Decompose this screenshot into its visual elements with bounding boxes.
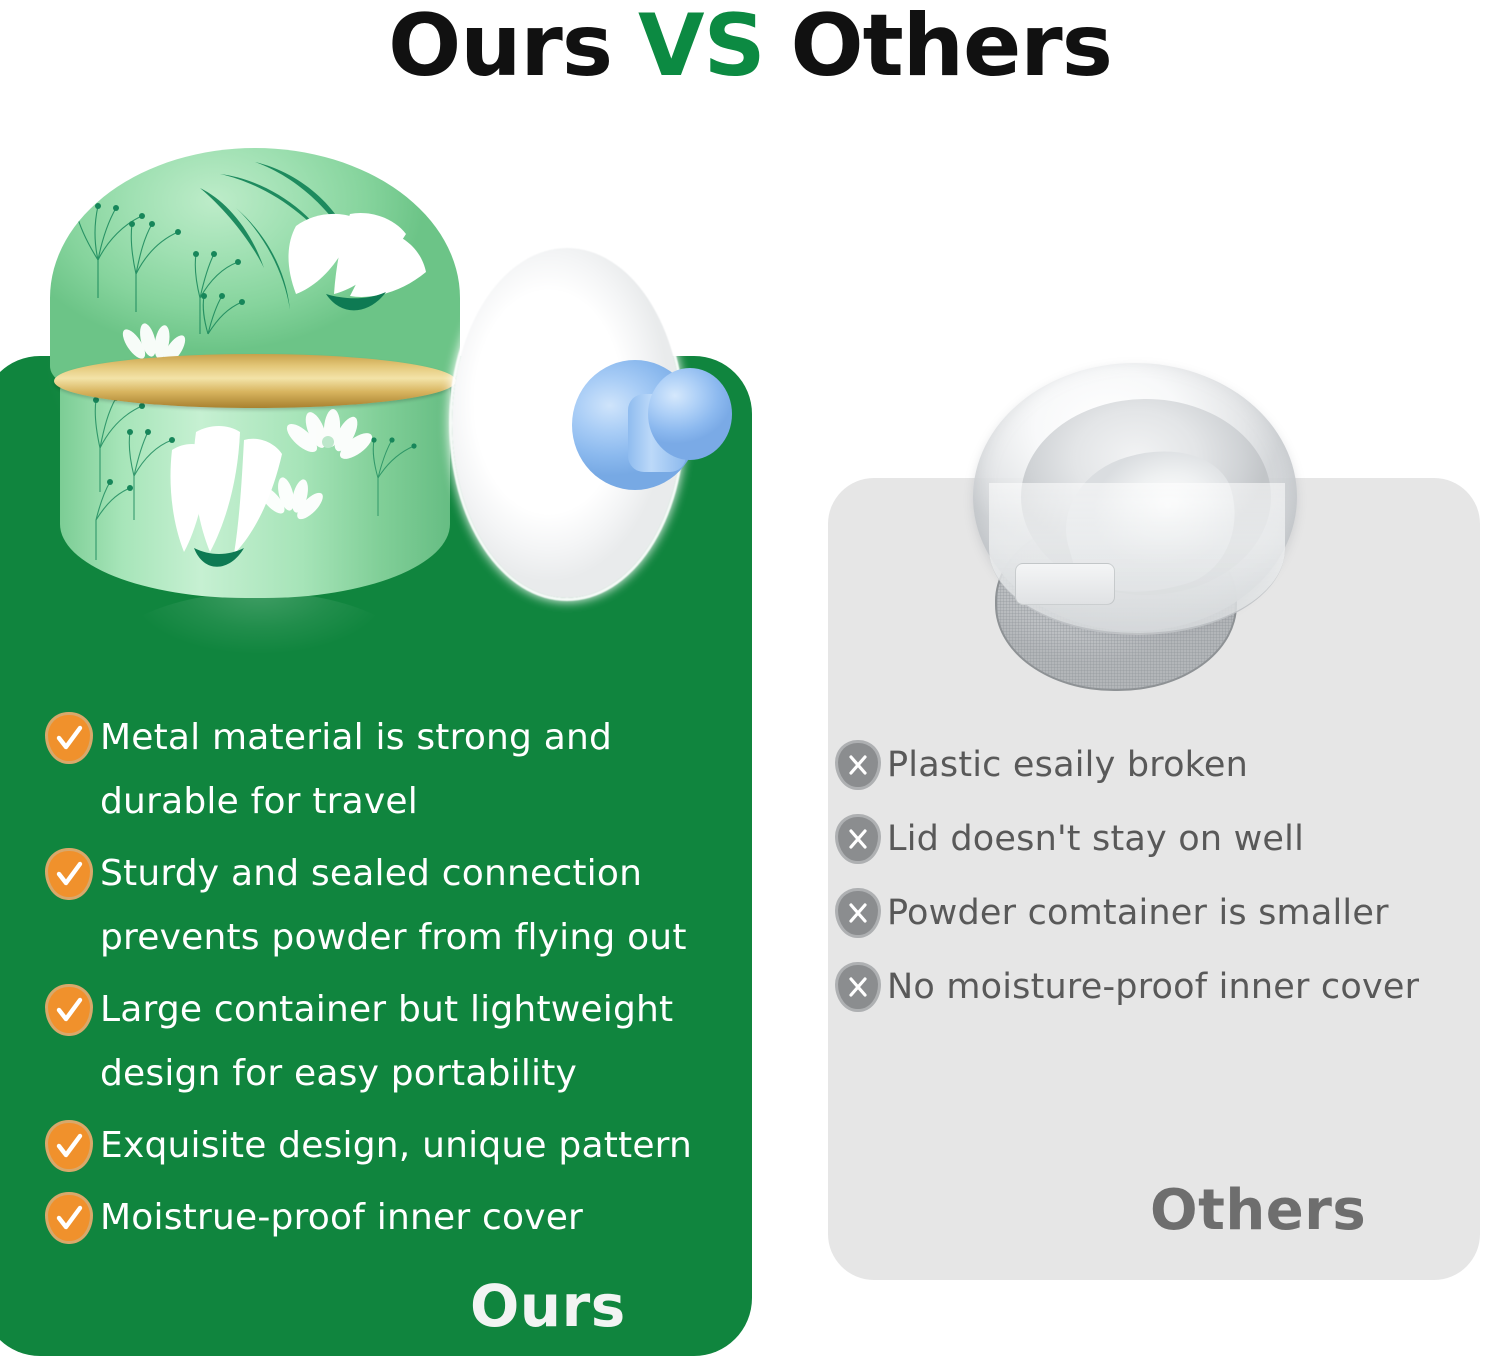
list-item-label: Lid doesn't stay on well: [887, 816, 1304, 862]
list-item: Lid doesn't stay on well: [838, 816, 1478, 862]
ours-product-image: [34, 140, 734, 640]
list-item-label: Sturdy and sealed connection prevents po…: [100, 842, 687, 970]
list-item: Powder comtainer is smaller: [838, 890, 1478, 936]
x-badge-icon: [838, 743, 878, 787]
check-badge-icon: [48, 851, 90, 897]
floral-pattern-lid: [50, 148, 460, 388]
list-item: Moistrue-proof inner cover: [48, 1186, 726, 1250]
list-item: Sturdy and sealed connection prevents po…: [48, 842, 726, 970]
list-item: Large container but lightweight design f…: [48, 978, 726, 1106]
powder-puff: [452, 248, 722, 608]
others-footer-label: Others: [1150, 1178, 1366, 1243]
ours-feature-list: Metal material is strong and durable for…: [48, 706, 726, 1258]
ours-footer-label: Ours: [470, 1272, 626, 1340]
list-item-label: Exquisite design, unique pattern: [100, 1114, 692, 1178]
x-badge-icon: [838, 965, 878, 1009]
list-item-label: No moisture-proof inner cover: [887, 964, 1419, 1010]
title-others: Others: [791, 0, 1112, 96]
check-badge-icon: [48, 987, 90, 1033]
list-item: Plastic esaily broken: [838, 742, 1478, 788]
list-item-label: Powder comtainer is smaller: [887, 890, 1389, 936]
x-badge-icon: [838, 817, 878, 861]
check-badge-icon: [48, 715, 90, 761]
check-badge-icon: [48, 1195, 90, 1241]
tin-body: [60, 380, 450, 598]
list-item: No moisture-proof inner cover: [838, 964, 1478, 1010]
list-item: Exquisite design, unique pattern: [48, 1114, 726, 1178]
x-badge-icon: [838, 891, 878, 935]
title-ours: Ours: [388, 0, 612, 96]
comparison-infographic: OursVSOthers: [0, 0, 1500, 1369]
list-item-label: Metal material is strong and durable for…: [100, 706, 612, 834]
page-title: OursVSOthers: [0, 0, 1500, 96]
list-item-label: Plastic esaily broken: [887, 742, 1248, 788]
plastic-lid-tab: [1015, 563, 1115, 605]
list-item-label: Large container but lightweight design f…: [100, 978, 673, 1106]
list-item: Metal material is strong and durable for…: [48, 706, 726, 834]
puff-knob-top: [648, 368, 732, 460]
floral-pattern-body: [60, 380, 450, 598]
tin-gold-band: [54, 354, 456, 408]
check-badge-icon: [48, 1123, 90, 1169]
title-vs: VS: [638, 0, 765, 96]
others-product-image: [955, 355, 1335, 705]
list-item-label: Moistrue-proof inner cover: [100, 1186, 583, 1250]
tin-lid: [50, 148, 460, 388]
metal-powder-tin: [50, 148, 460, 598]
others-feature-list: Plastic esaily broken Lid doesn't stay o…: [838, 742, 1478, 1038]
